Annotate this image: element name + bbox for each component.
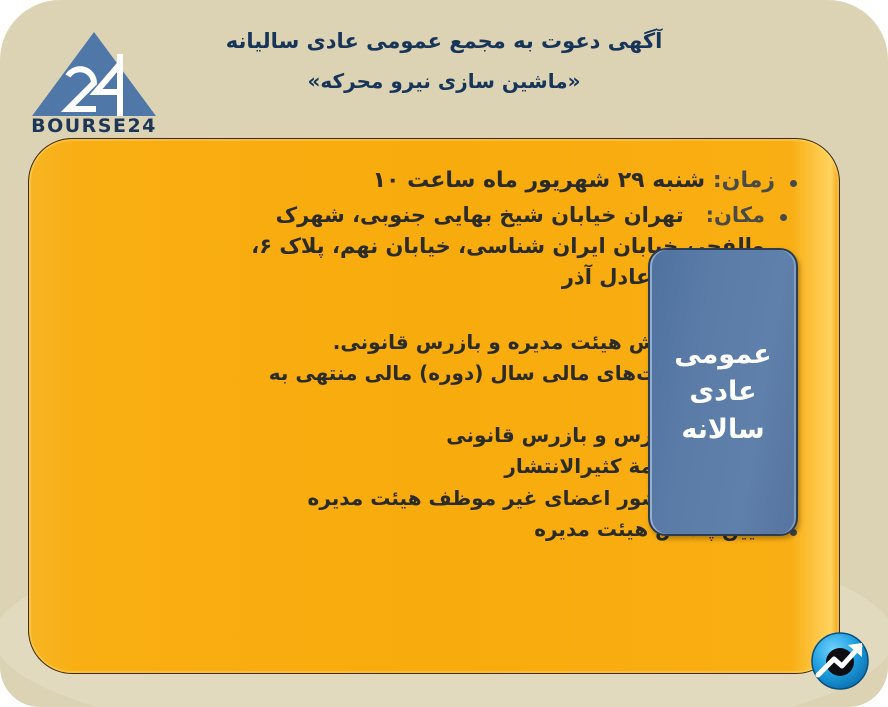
badge-line-1: عمومی xyxy=(674,336,772,373)
poster-root: BOURSE24 آگهی دعوت به مجمع عمومی عادی سا… xyxy=(0,0,888,707)
badge-line-2: عادی xyxy=(689,373,756,410)
chart-icon-artwork xyxy=(810,631,870,691)
time-value: شنبه ۲۹ شهریور ماه ساعت ۱۰ xyxy=(373,168,706,193)
bourse24-logo: BOURSE24 xyxy=(28,24,160,136)
place-label: مکان: xyxy=(706,203,765,227)
meeting-type-badge: عمومی عادی سالانه xyxy=(648,248,798,536)
logo-artwork: BOURSE24 xyxy=(28,24,160,136)
time-label: زمان: xyxy=(713,168,775,193)
badge-line-3: سالانه xyxy=(681,411,764,448)
logo-wordmark: BOURSE24 xyxy=(31,115,157,136)
list-item-time: زمان: شنبه ۲۹ شهریور ماه ساعت ۱۰ xyxy=(191,165,801,198)
trending-up-chart-icon xyxy=(810,631,870,691)
